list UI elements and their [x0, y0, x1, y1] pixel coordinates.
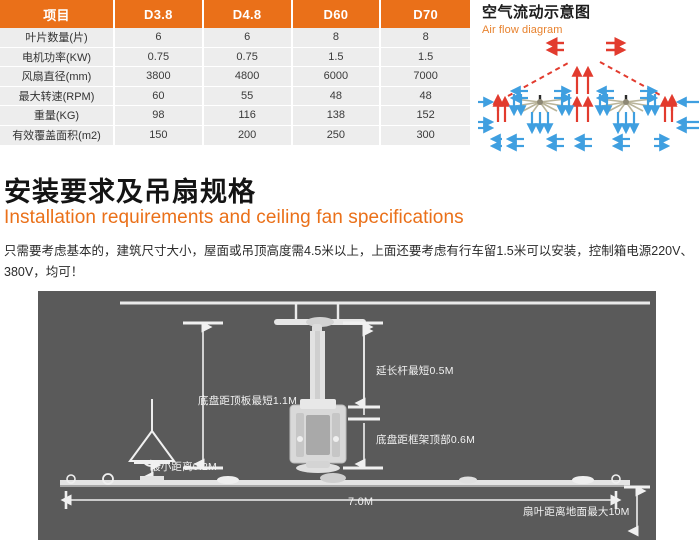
- label-chassis-to-frame: 底盘距框架顶部0.6M: [376, 432, 475, 447]
- hot-air-risers-center: [577, 68, 588, 122]
- table-header-d38: D3.8: [115, 0, 204, 28]
- label-span: 7.0M: [348, 496, 373, 508]
- cell-value: 0.75: [115, 48, 204, 68]
- airflow-title: 空气流动示意图: [482, 0, 700, 22]
- cell-value: 48: [293, 87, 382, 107]
- cell-value: 7000: [381, 67, 470, 87]
- row-label: 重量(KG): [0, 106, 115, 126]
- row-label: 有效覆盖面积(m2): [0, 126, 115, 146]
- cell-value: 116: [204, 106, 293, 126]
- cell-value: 4800: [204, 67, 293, 87]
- cell-value: 6: [115, 28, 204, 48]
- table-row: 风扇直径(mm) 3800 4800 6000 7000: [0, 67, 470, 87]
- cool-air-horizontal-floor: [492, 139, 668, 146]
- row-label: 电机功率(KW): [0, 48, 115, 68]
- airflow-panel: 空气流动示意图 Air flow diagram: [482, 0, 700, 152]
- table-row: 重量(KG) 98 116 138 152: [0, 106, 470, 126]
- cell-value: 6000: [293, 67, 382, 87]
- table-header-d48: D4.8: [204, 0, 293, 28]
- table-row: 电机功率(KW) 0.75 0.75 1.5 1.5: [0, 48, 470, 68]
- cell-value: 8: [381, 28, 470, 48]
- table-row: 有效覆盖面积(m2) 150 200 250 300: [0, 126, 470, 146]
- airflow-illustration: [478, 36, 700, 152]
- cell-value: 0.75: [204, 48, 293, 68]
- floor-rail: [60, 473, 630, 487]
- cell-value: 1.5: [381, 48, 470, 68]
- cell-value: 48: [381, 87, 470, 107]
- table-header-d60: D60: [293, 0, 382, 28]
- table-header-item: 项目: [0, 0, 115, 28]
- cool-air-horizontal-upper: [512, 91, 656, 98]
- exhaust-arrows-right: [606, 43, 624, 50]
- cell-value: 60: [115, 87, 204, 107]
- cell-value: 152: [381, 106, 470, 126]
- exhaust-arrows-left: [548, 43, 564, 50]
- cell-value: 150: [115, 126, 204, 146]
- cell-value: 250: [293, 126, 382, 146]
- table-header-d70: D70: [381, 0, 470, 28]
- dimension-chassis-to-frame: [343, 331, 383, 468]
- cell-value: 300: [381, 126, 470, 146]
- obstruction-cone: [130, 399, 174, 466]
- roof-slope-lines: [508, 62, 662, 96]
- label-extension-rod: 延长杆最短0.5M: [376, 363, 454, 378]
- installation-diagram: 底盘距顶板最短1.1M 延长杆最短0.5M 底盘距框架顶部0.6M 最小距离0.…: [38, 291, 656, 540]
- cell-value: 138: [293, 106, 382, 126]
- label-min-distance: 最小距离0.2M: [150, 459, 217, 474]
- airflow-subtitle: Air flow diagram: [482, 23, 700, 37]
- specifications-table: 项目 D3.8 D4.8 D60 D70 叶片数量(片) 6 6 8 8 电机功…: [0, 0, 470, 145]
- row-label: 风扇直径(mm): [0, 67, 115, 87]
- label-chassis-to-ceiling: 底盘距顶板最短1.1M: [198, 393, 297, 408]
- cell-value: 6: [204, 28, 293, 48]
- row-label: 叶片数量(片): [0, 28, 115, 48]
- label-blade-to-floor: 扇叶距离地面最大10M: [523, 504, 630, 519]
- table-row: 最大转速(RPM) 60 55 48 48: [0, 87, 470, 107]
- description-paragraph: 只需要考虑基本的，建筑尺寸大小，屋面或吊顶高度需4.5米以上，上面还要考虑有行车…: [4, 241, 698, 283]
- cool-air-downdraft: [532, 112, 634, 132]
- table-header-row: 项目 D3.8 D4.8 D60 D70: [0, 0, 470, 28]
- page-title: 安装要求及吊扇规格: [4, 170, 256, 209]
- row-label: 最大转速(RPM): [0, 87, 115, 107]
- page-subtitle: Installation requirements and ceiling fa…: [4, 207, 464, 229]
- table-row: 叶片数量(片) 6 6 8 8: [0, 28, 470, 48]
- cell-value: 3800: [115, 67, 204, 87]
- cell-value: 200: [204, 126, 293, 146]
- cell-value: 98: [115, 106, 204, 126]
- cell-value: 55: [204, 87, 293, 107]
- cell-value: 8: [293, 28, 382, 48]
- motor-housing: [290, 399, 346, 463]
- installation-drawing: [38, 291, 656, 540]
- ceiling-beam: [120, 303, 650, 321]
- product-spec-page: 项目 D3.8 D4.8 D60 D70 叶片数量(片) 6 6 8 8 电机功…: [0, 0, 700, 552]
- cell-value: 1.5: [293, 48, 382, 68]
